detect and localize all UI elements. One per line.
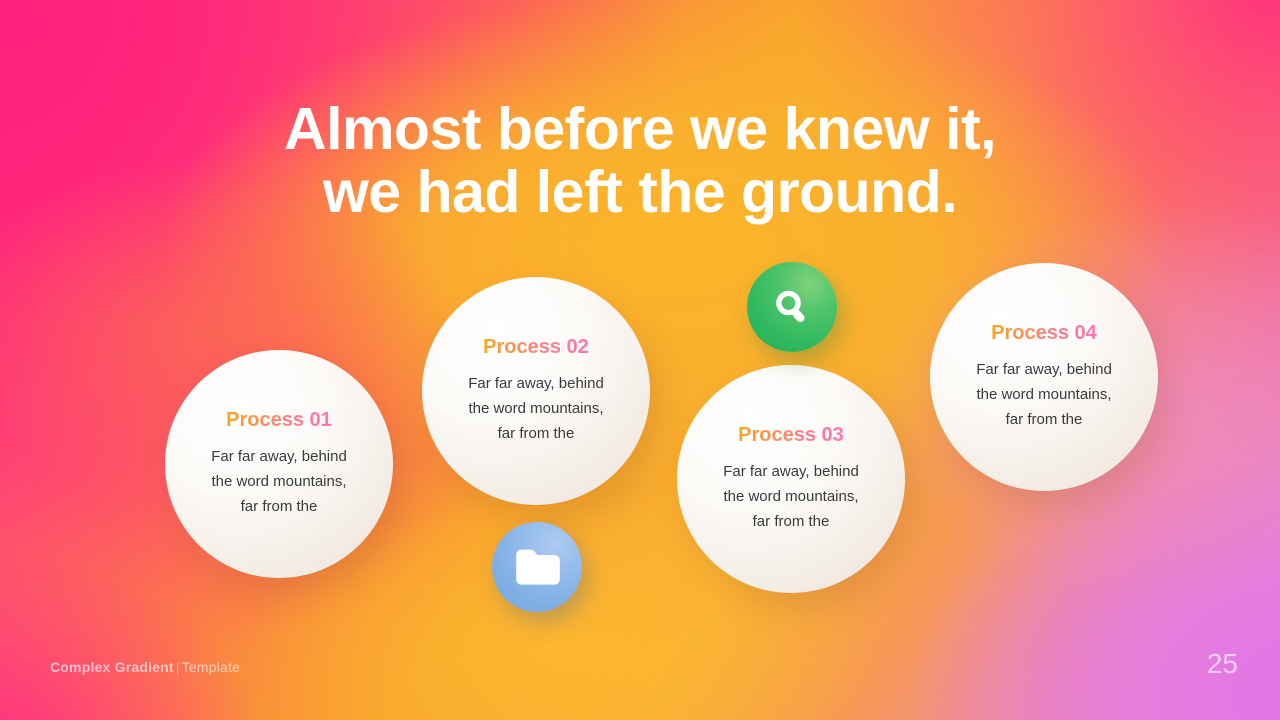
search-badge[interactable] bbox=[747, 262, 837, 352]
process-body-04: Far far away, behind the word mountains,… bbox=[976, 357, 1112, 433]
process-body-03: Far far away, behind the word mountains,… bbox=[723, 459, 859, 535]
footer-separator: | bbox=[174, 659, 182, 675]
footer-branding: Complex Gradient|Template bbox=[50, 659, 240, 675]
folder-badge[interactable] bbox=[492, 522, 582, 612]
process-body-02: Far far away, behind the word mountains,… bbox=[468, 371, 604, 447]
process-circle-04[interactable]: Process 04 Far far away, behind the word… bbox=[930, 263, 1158, 491]
page-title: Almost before we knew it, we had left th… bbox=[0, 98, 1280, 225]
process-body-01: Far far away, behind the word mountains,… bbox=[211, 444, 347, 520]
footer-brand: Complex Gradient bbox=[50, 659, 174, 675]
process-title-01: Process 01 bbox=[226, 409, 332, 432]
search-icon bbox=[769, 284, 815, 330]
process-circle-02[interactable]: Process 02 Far far away, behind the word… bbox=[422, 277, 650, 505]
process-circle-03[interactable]: Process 03 Far far away, behind the word… bbox=[677, 365, 905, 593]
footer-kind: Template bbox=[182, 659, 240, 675]
slide-canvas: Almost before we knew it, we had left th… bbox=[0, 0, 1280, 720]
process-circle-01[interactable]: Process 01 Far far away, behind the word… bbox=[165, 350, 393, 578]
process-title-02: Process 02 bbox=[483, 336, 589, 359]
process-title-04: Process 04 bbox=[991, 322, 1097, 345]
process-title-03: Process 03 bbox=[738, 424, 844, 447]
page-number: 25 bbox=[1207, 648, 1238, 680]
folder-icon bbox=[513, 546, 561, 588]
